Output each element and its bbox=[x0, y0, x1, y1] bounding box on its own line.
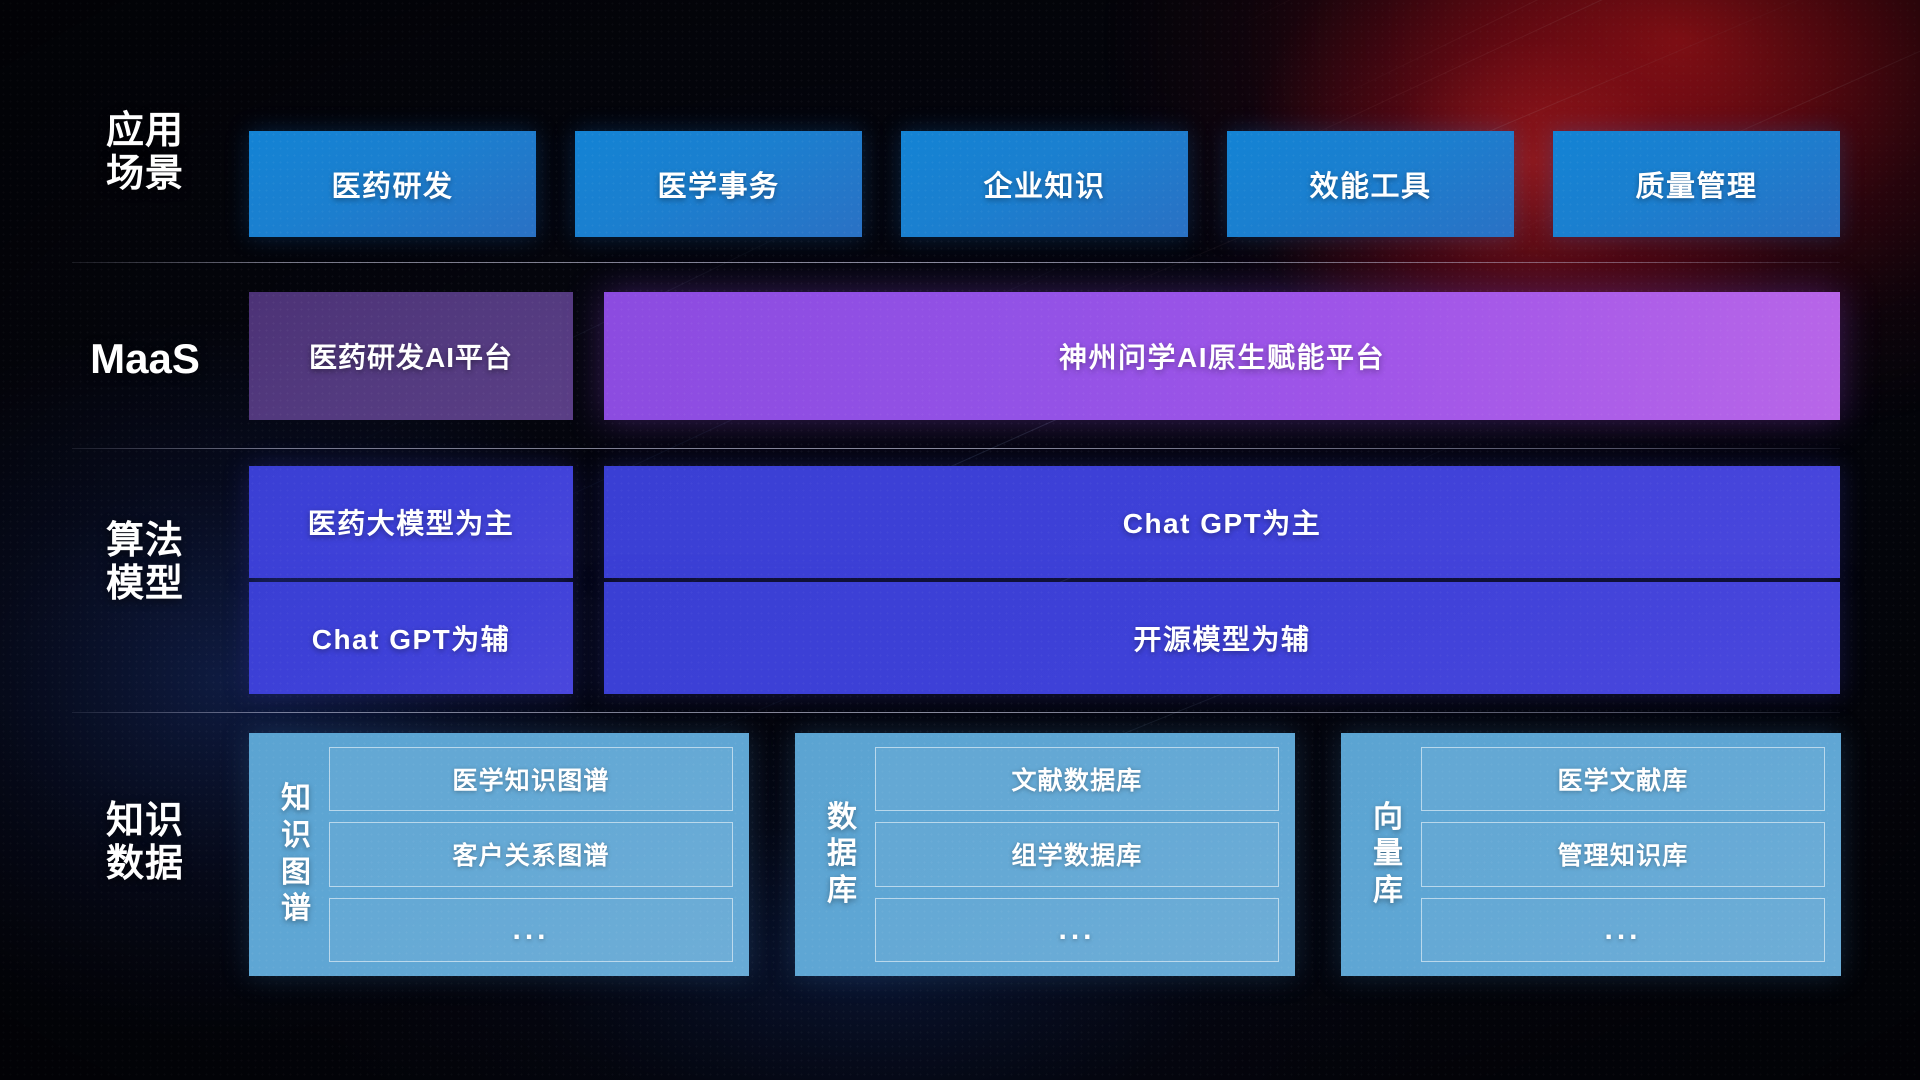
row-label-algorithm: 算法 模型 bbox=[70, 520, 220, 605]
kn-item-medical-literature-store-label: 医学文献库 bbox=[1557, 761, 1688, 797]
knowledge-panel-database-vertical-label: 数 据 库 bbox=[809, 747, 875, 962]
app-box-enterprise-knowledge[interactable]: 企业知识 bbox=[901, 131, 1188, 237]
kn-item-literature-database[interactable]: 文献数据库 bbox=[875, 747, 1279, 811]
kn-item-database-more[interactable]: ... bbox=[875, 898, 1279, 962]
knowledge-panel-graph-items: 医学知识图谱 客户关系图谱 ... bbox=[329, 747, 733, 962]
row-label-application-line2: 场景 bbox=[70, 153, 220, 196]
row-label-algorithm-line1: 算法 bbox=[70, 520, 220, 563]
app-box-enterprise-knowledge-label: 企业知识 bbox=[983, 163, 1105, 205]
algo-box-chatgpt-secondary[interactable]: Chat GPT为辅 bbox=[249, 582, 573, 694]
knowledge-panel-vector-items: 医学文献库 管理知识库 ... bbox=[1421, 747, 1825, 962]
algo-box-opensource-secondary[interactable]: 开源模型为辅 bbox=[604, 582, 1840, 694]
algo-box-chatgpt-primary[interactable]: Chat GPT为主 bbox=[604, 466, 1840, 578]
row-label-knowledge: 知识 数据 bbox=[70, 800, 220, 885]
kn-item-graph-more[interactable]: ... bbox=[329, 898, 733, 962]
kn-item-graph-more-label: ... bbox=[512, 913, 549, 947]
row-label-maas: MaaS bbox=[70, 335, 220, 382]
algo-box-chatgpt-secondary-label: Chat GPT为辅 bbox=[312, 618, 511, 658]
maas-box-shenzhou-platform-label: 神州问学AI原生赋能平台 bbox=[1059, 336, 1385, 376]
kn-item-management-knowledge-store-label: 管理知识库 bbox=[1557, 836, 1688, 872]
app-box-quality-management[interactable]: 质量管理 bbox=[1553, 131, 1840, 237]
kn-item-literature-database-label: 文献数据库 bbox=[1011, 761, 1142, 797]
kn-graph-char-3: 谱 bbox=[281, 891, 311, 928]
kn-item-customer-relation-graph[interactable]: 客户关系图谱 bbox=[329, 822, 733, 886]
algo-box-drug-llm-primary[interactable]: 医药大模型为主 bbox=[249, 466, 573, 578]
divider-algorithm-knowledge bbox=[72, 712, 1840, 713]
divider-maas-algorithm bbox=[72, 448, 1840, 449]
row-label-algorithm-line2: 模型 bbox=[70, 563, 220, 606]
kn-item-medical-knowledge-graph-label: 医学知识图谱 bbox=[452, 761, 609, 797]
maas-box-shenzhou-platform[interactable]: 神州问学AI原生赋能平台 bbox=[604, 292, 1840, 420]
algo-box-opensource-secondary-label: 开源模型为辅 bbox=[1133, 618, 1310, 658]
kn-item-database-more-label: ... bbox=[1058, 913, 1095, 947]
row-label-application: 应用 场景 bbox=[70, 110, 220, 195]
kn-graph-char-2: 图 bbox=[281, 855, 311, 892]
kn-item-vector-more-label: ... bbox=[1604, 913, 1641, 947]
knowledge-panel-vector[interactable]: 向 量 库 医学文献库 管理知识库 ... bbox=[1341, 733, 1841, 976]
knowledge-panel-database-items: 文献数据库 组学数据库 ... bbox=[875, 747, 1279, 962]
app-box-efficiency-tools-label: 效能工具 bbox=[1309, 163, 1431, 205]
maas-box-drug-rd-platform[interactable]: 医药研发AI平台 bbox=[249, 292, 573, 420]
kn-vec-char-2: 库 bbox=[1373, 873, 1403, 910]
app-box-drug-rd[interactable]: 医药研发 bbox=[249, 131, 536, 237]
kn-db-char-2: 库 bbox=[827, 873, 857, 910]
algo-box-drug-llm-primary-label: 医药大模型为主 bbox=[308, 502, 515, 542]
kn-item-customer-relation-graph-label: 客户关系图谱 bbox=[452, 836, 609, 872]
kn-item-medical-literature-store[interactable]: 医学文献库 bbox=[1421, 747, 1825, 811]
row-label-maas-text: MaaS bbox=[70, 335, 220, 382]
row-label-knowledge-line2: 数据 bbox=[70, 843, 220, 886]
kn-item-omics-database-label: 组学数据库 bbox=[1011, 836, 1142, 872]
app-box-efficiency-tools[interactable]: 效能工具 bbox=[1227, 131, 1514, 237]
knowledge-panel-graph-vertical-label: 知 识 图 谱 bbox=[263, 747, 329, 962]
maas-box-drug-rd-platform-label: 医药研发AI平台 bbox=[309, 336, 513, 376]
app-box-quality-management-label: 质量管理 bbox=[1635, 163, 1757, 205]
app-box-drug-rd-label: 医药研发 bbox=[331, 163, 453, 205]
knowledge-panel-database[interactable]: 数 据 库 文献数据库 组学数据库 ... bbox=[795, 733, 1295, 976]
knowledge-panel-vector-vertical-label: 向 量 库 bbox=[1355, 747, 1421, 962]
kn-vec-char-1: 量 bbox=[1373, 836, 1403, 873]
algo-box-chatgpt-primary-label: Chat GPT为主 bbox=[1123, 502, 1322, 542]
architecture-diagram: 应用 场景 医药研发 医学事务 企业知识 效能工具 质量管理 MaaS 医药研发… bbox=[0, 0, 1920, 1080]
kn-item-management-knowledge-store[interactable]: 管理知识库 bbox=[1421, 822, 1825, 886]
row-label-knowledge-line1: 知识 bbox=[70, 800, 220, 843]
kn-graph-char-1: 识 bbox=[281, 818, 311, 855]
kn-db-char-1: 据 bbox=[827, 836, 857, 873]
kn-db-char-0: 数 bbox=[827, 800, 857, 837]
app-box-medical-affairs[interactable]: 医学事务 bbox=[575, 131, 862, 237]
kn-graph-char-0: 知 bbox=[281, 781, 311, 818]
kn-item-vector-more[interactable]: ... bbox=[1421, 898, 1825, 962]
kn-item-omics-database[interactable]: 组学数据库 bbox=[875, 822, 1279, 886]
app-box-medical-affairs-label: 医学事务 bbox=[657, 163, 779, 205]
knowledge-panel-graph[interactable]: 知 识 图 谱 医学知识图谱 客户关系图谱 ... bbox=[249, 733, 749, 976]
kn-item-medical-knowledge-graph[interactable]: 医学知识图谱 bbox=[329, 747, 733, 811]
kn-vec-char-0: 向 bbox=[1373, 800, 1403, 837]
divider-application-maas bbox=[72, 262, 1840, 263]
row-label-application-line1: 应用 bbox=[70, 110, 220, 153]
